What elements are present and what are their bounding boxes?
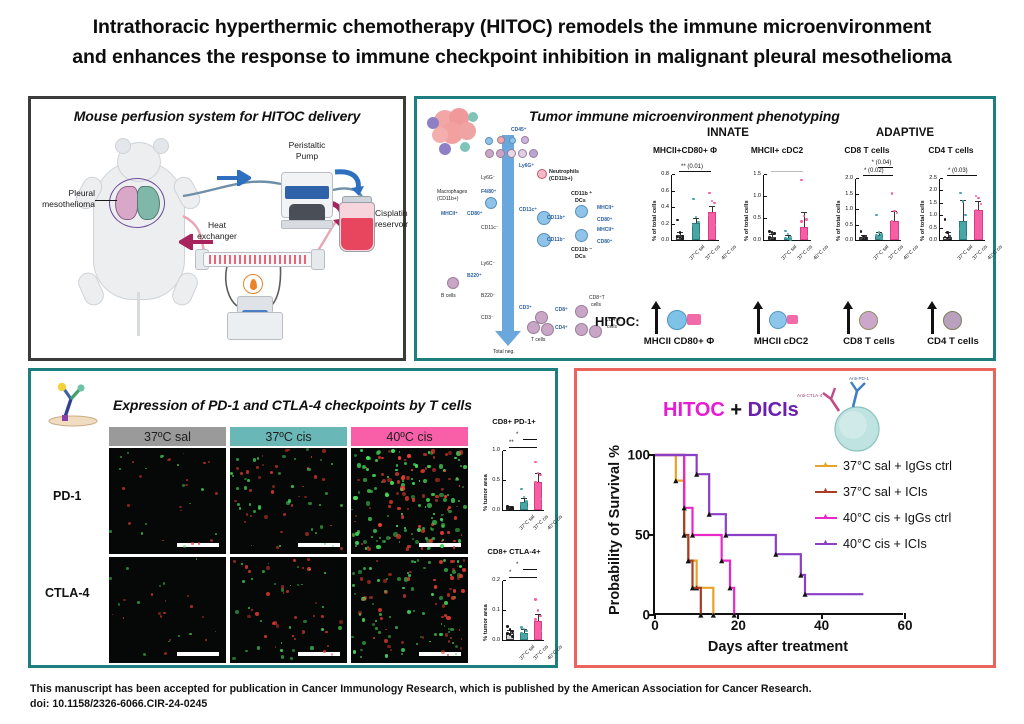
fluorescence-speckle [247, 615, 251, 619]
fluorescence-speckle [319, 504, 321, 506]
up-arrow-icon [655, 308, 658, 334]
cell-icon [507, 149, 516, 158]
fluorescence-speckle [455, 478, 458, 481]
label-peristaltic-pump: Peristaltic Pump [275, 140, 339, 161]
fluorescence-speckle [382, 479, 386, 483]
x-category-label: 37°C sal [956, 244, 974, 262]
fluorescence-speckle [352, 572, 355, 575]
significance-line [878, 167, 893, 168]
up-arrow-icon [847, 308, 850, 334]
fluorescence-speckle [432, 520, 436, 524]
fluorescence-speckle [451, 596, 454, 599]
fluorescence-speckle [455, 528, 459, 532]
y-tick-label: 1.0 [929, 212, 940, 218]
y-tick-label: 0.1 [492, 607, 503, 613]
fluorescence-speckle [434, 633, 437, 636]
fluorescence-speckle [241, 563, 243, 565]
fluorescence-speckle [360, 649, 363, 652]
legend-marker [815, 465, 837, 467]
fluorescence-speckle [418, 504, 421, 507]
fluorescence-speckle [307, 558, 310, 561]
significance-line [771, 171, 803, 172]
fluorescence-speckle [315, 602, 317, 604]
fluorescence-speckle [321, 615, 324, 618]
data-point [800, 220, 802, 222]
fluorescence-speckle [202, 616, 204, 618]
fluorescence-speckle [246, 513, 248, 515]
hitoc-word: HITOC: [595, 314, 640, 329]
fluorescence-speckle [354, 593, 357, 596]
fluorescence-speckle [283, 592, 284, 593]
data-point [539, 615, 541, 617]
t-cell-icon [527, 321, 540, 334]
bar-2 [534, 482, 542, 510]
data-point [977, 197, 979, 199]
fluorescence-speckle [262, 570, 265, 573]
column-header-37-sal: 37ºC sal [109, 427, 226, 446]
fluorescence-speckle [458, 539, 461, 542]
fluorescence-speckle [382, 540, 385, 543]
fluorescence-speckle [322, 606, 324, 608]
data-point [708, 192, 710, 194]
fluorescence-speckle [325, 631, 327, 633]
fluorescence-speckle [262, 464, 264, 466]
scale-bar [298, 652, 340, 656]
if-image-ctla4-37sal [109, 557, 226, 663]
hx-end-right-icon [311, 249, 325, 270]
fluorescence-speckle [357, 463, 362, 468]
cd4-t-cell-icon [575, 323, 588, 336]
fluorescence-speckle [215, 533, 217, 535]
fluorescence-speckle [401, 476, 405, 480]
gate-bcells: B cells [441, 293, 456, 299]
heat-flame-icon [243, 274, 263, 294]
y-tick-label: 1.5 [753, 171, 764, 177]
legend-label: 37°C sal + ICIs [843, 485, 927, 499]
fluorescence-speckle [353, 650, 357, 654]
fluorescence-speckle [123, 617, 125, 619]
data-point [944, 218, 946, 220]
fluorescence-speckle [448, 478, 450, 480]
fluorescence-speckle [293, 559, 296, 562]
data-point [534, 481, 536, 483]
censor-mark [711, 613, 716, 618]
fluorescence-speckle [441, 540, 442, 541]
fluorescence-speckle [433, 513, 435, 515]
fluorescence-speckle [215, 492, 218, 495]
row-label-ctla4: CTLA-4 [45, 586, 89, 600]
data-point [784, 230, 786, 232]
significance-label: * [516, 562, 518, 568]
fluorescence-speckle [294, 458, 296, 460]
fluorescence-speckle [439, 493, 443, 497]
fluorescence-speckle [272, 622, 275, 625]
fluorescence-speckle [427, 465, 431, 469]
fluorescence-speckle [270, 471, 273, 474]
fluorescence-speckle [421, 547, 424, 550]
y-tick-label: 0.0 [753, 237, 764, 243]
fluorescence-speckle [461, 534, 462, 535]
fluorescence-speckle [257, 457, 259, 459]
panel-a-title: Mouse perfusion system for HITOC deliver… [31, 108, 403, 124]
fluorescence-speckle [452, 560, 456, 564]
fluorescence-speckle [327, 645, 329, 647]
data-point [511, 508, 513, 510]
fluorescence-speckle [380, 617, 383, 620]
data-point [525, 500, 527, 502]
chart-title: CD8+ PD-1+ [474, 417, 554, 426]
data-point [506, 625, 508, 627]
fluorescence-speckle [258, 505, 261, 508]
fluorescence-speckle [291, 504, 294, 507]
fluorescence-speckle [423, 567, 425, 569]
fluorescence-speckle [281, 655, 284, 658]
title-plus: + [725, 399, 748, 421]
data-point [539, 630, 541, 632]
x-category-label: 37°C sal [781, 244, 799, 262]
fluorescence-speckle [376, 451, 380, 455]
fluorescence-speckle [372, 474, 375, 477]
gate-cd45: CD45⁺ [511, 127, 526, 133]
cell-icon [485, 149, 494, 158]
fluorescence-speckle [339, 620, 343, 624]
significance-line [947, 175, 978, 176]
fluorescence-speckle [431, 517, 433, 519]
fluorescence-speckle [280, 649, 283, 652]
fluorescence-speckle [384, 639, 388, 643]
fluorescence-speckle [395, 626, 398, 629]
fluorescence-speckle [456, 506, 458, 508]
fluorescence-speckle [109, 530, 112, 533]
fluorescence-speckle [286, 501, 290, 505]
fluorescence-speckle [453, 540, 455, 542]
fluorescence-speckle [208, 461, 210, 463]
data-point [891, 220, 893, 222]
significance-label: * (0.03) [948, 168, 968, 174]
fluorescence-speckle [274, 583, 276, 585]
chart-mhcii-cdc2: MHCII+ cDC20.00.51.01.5% of total cells3… [733, 145, 821, 295]
fluorescence-speckle [256, 466, 259, 469]
fluorescence-speckle [448, 451, 452, 455]
significance-label: * [509, 570, 511, 576]
mhcii-molecule-icon [787, 315, 798, 324]
fluorescence-speckle [428, 561, 430, 563]
fluorescence-speckle [376, 540, 378, 542]
fluorescence-speckle [249, 489, 251, 491]
fluorescence-speckle [376, 545, 380, 549]
pump-line1: Peristaltic [289, 140, 326, 150]
gate-cd3-neg: CD3⁻ [481, 315, 494, 321]
fluorescence-speckle [454, 516, 458, 520]
fluorescence-speckle [425, 537, 428, 540]
hx-line2: exchanger [197, 231, 237, 241]
gate-dcs-pos-2: DCs [575, 198, 586, 204]
fluorescence-speckle [369, 507, 371, 509]
title-line-2: and enhances the response to immune chec… [40, 42, 984, 72]
fluorescence-speckle [372, 603, 374, 605]
data-point [679, 231, 681, 233]
survival-plot-area: 0501000204060 [653, 455, 903, 615]
fluorescence-speckle [432, 468, 436, 472]
fluorescence-speckle [381, 457, 383, 459]
error-bar [712, 207, 713, 212]
data-point [803, 230, 805, 232]
fluorescence-speckle [324, 572, 327, 575]
significance-label: * (0.04) [872, 160, 892, 166]
legend-marker [815, 543, 837, 545]
fluorescence-speckle [294, 616, 297, 619]
data-point [534, 461, 536, 463]
fluorescence-speckle [415, 464, 419, 468]
fluorescence-speckle [182, 484, 185, 487]
if-image-pd1-37sal [109, 448, 226, 554]
fluorescence-speckle [367, 547, 371, 551]
fluorescence-speckle [137, 601, 140, 604]
fluorescence-speckle [236, 487, 239, 490]
error-cap [801, 212, 807, 213]
legend-item-0[interactable]: 37°C sal + IgGs ctrl [815, 459, 952, 473]
data-point [964, 236, 966, 238]
fluorescence-speckle [122, 487, 125, 490]
fluorescence-speckle [186, 479, 188, 481]
footer-doi: doi: 10.1158/2326-6066.CIR-24-0245 [30, 697, 990, 712]
data-point [525, 635, 527, 637]
pump-line2: Pump [296, 151, 318, 161]
fluorescence-speckle [302, 567, 304, 569]
fluorescence-speckle [372, 623, 375, 626]
fluorescence-speckle [244, 486, 247, 489]
fluorescence-speckle [109, 577, 112, 580]
fluorescence-speckle [355, 515, 357, 517]
fluorescence-speckle [127, 504, 130, 507]
fluorescence-speckle [120, 456, 122, 458]
fluorescence-speckle [251, 578, 253, 580]
fluorescence-speckle [159, 585, 161, 587]
fluorescence-speckle [249, 503, 251, 505]
fluorescence-speckle [417, 559, 419, 561]
data-point [511, 630, 513, 632]
fluorescence-speckle [381, 473, 385, 477]
censor-mark [732, 613, 737, 618]
footer: This manuscript has been accepted for pu… [30, 682, 990, 713]
y-tick-label: 1.0 [492, 447, 503, 453]
data-point [692, 198, 694, 200]
fluorescence-speckle [247, 479, 250, 482]
fluorescence-speckle [139, 475, 142, 478]
fluorescence-speckle [164, 652, 167, 655]
fluorescence-speckle [191, 542, 194, 545]
fluorescence-speckle [357, 479, 360, 482]
y-tick-label: 0.0 [492, 637, 503, 643]
legend-item-1[interactable]: 37°C sal + ICIs [815, 485, 927, 499]
significance-label: ** (0.01) [681, 164, 703, 170]
fluorescence-speckle [447, 593, 451, 597]
y-tick-label: 2.0 [929, 187, 940, 193]
fluorescence-speckle [276, 624, 279, 627]
gate-tcells: T cells [531, 337, 545, 343]
legend-item-2[interactable]: 40°C cis + IgGs ctrl [815, 511, 951, 525]
fluorescence-speckle [401, 515, 405, 519]
fluorescence-speckle [275, 465, 277, 467]
water-bath-icon [227, 312, 283, 340]
fluorescence-speckle [423, 453, 426, 456]
fluorescence-speckle [413, 610, 415, 612]
fluorescence-speckle [443, 498, 447, 502]
fluorescence-speckle [292, 649, 294, 651]
fluorescence-speckle [160, 615, 163, 618]
plot-area: 0.00.51.01.5 [763, 175, 811, 241]
curved-arrow-blue-icon [331, 166, 367, 196]
fluorescence-speckle [422, 494, 425, 497]
fluorescence-speckle [331, 463, 333, 465]
fluorescence-speckle [401, 648, 405, 652]
fluorescence-speckle [151, 593, 154, 596]
fluorescence-speckle [421, 529, 425, 533]
fluorescence-speckle [446, 616, 450, 620]
significance-line [523, 439, 537, 440]
label-cisplatin-reservoir: Cisplatin reservoir [375, 208, 409, 229]
fluorescence-speckle [463, 505, 467, 509]
survival-curve-2 [655, 455, 734, 615]
fluorescence-speckle [376, 560, 378, 562]
data-point [520, 488, 522, 490]
title-line-1: Intrathoracic hyperthermic chemotherapy … [40, 12, 984, 42]
fluorescence-speckle [379, 537, 381, 539]
legend-label: 40°C cis + ICIs [843, 537, 927, 551]
data-point [525, 630, 527, 632]
fluorescence-speckle [145, 523, 147, 525]
fluorescence-speckle [399, 451, 400, 452]
fluorescence-speckle [441, 650, 445, 654]
gate-dcs-pos-1: CD11b ⁺ [571, 191, 592, 197]
gate-b220-pos: B220⁺ [467, 273, 482, 279]
fluorescence-speckle [297, 584, 299, 586]
fluorescence-speckle [351, 636, 354, 639]
x-category-label: 37°C cis [704, 244, 721, 261]
fluorescence-speckle [279, 545, 281, 547]
fluorescence-speckle [251, 545, 252, 546]
fluorescence-speckle [248, 607, 250, 609]
fluorescence-speckle [412, 482, 415, 485]
gate-cd8-t-1: CD8⁺T [589, 295, 605, 301]
fluorescence-speckle [461, 638, 463, 640]
panel-d-title: HITOC + DICIs [663, 399, 799, 422]
fluorescence-speckle [196, 558, 197, 559]
gate-mhcii-2: MHCII⁺ [597, 227, 614, 233]
fluorescence-speckle [289, 626, 292, 629]
fluorescence-speckle [390, 481, 394, 485]
fluorescence-speckle [457, 577, 460, 580]
perfusion-diagram: Pleural mesothelioma [31, 124, 403, 342]
fluorescence-speckle [302, 486, 303, 487]
fluorescence-speckle [441, 523, 445, 527]
chart-title: CD8 T cells [825, 145, 909, 155]
fluorescence-speckle [245, 565, 248, 568]
fluorescence-speckle [308, 502, 312, 506]
fluorescence-speckle [439, 464, 443, 468]
fluorescence-speckle [375, 459, 378, 462]
fluorescence-speckle [310, 646, 314, 650]
fluorescence-speckle [118, 603, 121, 606]
fluorescence-speckle [264, 635, 267, 638]
row-label-pd1: PD-1 [53, 489, 81, 503]
fluorescence-speckle [399, 541, 401, 543]
cell-icon [518, 149, 527, 158]
fluorescence-speckle [426, 498, 430, 502]
fluorescence-speckle [354, 521, 356, 523]
fluorescence-speckle [145, 468, 147, 470]
fluorescence-speckle [165, 600, 166, 601]
fluorescence-speckle [385, 654, 389, 658]
data-point [697, 234, 699, 236]
fluorescence-speckle [305, 532, 309, 536]
fluorescence-speckle [283, 513, 286, 516]
hitoc-label-cd8: CD8 T cells [823, 336, 915, 347]
data-point [789, 238, 791, 240]
fluorescence-speckle [441, 616, 443, 618]
legend-item-3[interactable]: 40°C cis + ICIs [815, 537, 927, 551]
y-axis-label: % of total cells [920, 200, 926, 241]
plot-area: 0.00.51.01.52.0 [855, 179, 901, 241]
y-tick-label: 2.0 [845, 175, 856, 181]
fluorescence-speckle [395, 472, 399, 476]
fluorescence-speckle [401, 641, 405, 645]
macrophage-summary-icon [667, 310, 687, 330]
y-axis-label: % of total cells [836, 200, 842, 241]
fluorescence-speckle [281, 585, 284, 588]
bar-2 [800, 227, 809, 240]
censor-mark [698, 613, 703, 618]
fluorescence-speckle [444, 470, 446, 472]
b-cell-icon [447, 277, 459, 289]
fluorescence-speckle [201, 488, 204, 491]
y-tick-label: 0.0 [492, 507, 503, 513]
fluorescence-speckle [178, 635, 180, 637]
plot-area: 0.00.51.01.52.02.5 [939, 179, 985, 241]
fluorescence-speckle [427, 503, 432, 508]
gate-ly6g-neg: Ly6G⁻ [481, 175, 495, 181]
fluorescence-speckle [396, 464, 399, 467]
fluorescence-speckle [459, 485, 461, 487]
fluorescence-speckle [314, 475, 317, 478]
fluorescence-speckle [355, 545, 357, 547]
fluorescence-speckle [411, 469, 413, 471]
fluorescence-speckle [258, 476, 260, 478]
fluorescence-speckle [407, 508, 409, 510]
fluorescence-speckle [378, 631, 380, 633]
fluorescence-speckle [311, 456, 312, 457]
y-tick-label: 0.5 [753, 215, 764, 221]
fluorescence-speckle [462, 568, 466, 572]
panel-survival: HITOC + DICIs Anti-PD-1 Anti-CTLA-4 Prob… [574, 368, 996, 668]
fluorescence-speckle [463, 559, 465, 561]
fluorescence-speckle [340, 504, 343, 507]
fluorescence-speckle [307, 468, 310, 471]
fluorescence-speckle [457, 560, 460, 563]
fluorescence-speckle [452, 570, 456, 574]
fluorescence-speckle [385, 629, 387, 631]
fluorescence-speckle [179, 506, 182, 509]
fluorescence-speckle [396, 525, 397, 526]
fluorescence-speckle [375, 620, 377, 622]
title-hitoc: HITOC [663, 399, 725, 421]
fluorescence-speckle [368, 517, 372, 521]
fluorescence-speckle [321, 628, 324, 631]
fluorescence-speckle [362, 641, 366, 645]
fluorescence-speckle [441, 623, 442, 624]
cell-icon [529, 149, 538, 158]
fluorescence-speckle [435, 478, 439, 482]
